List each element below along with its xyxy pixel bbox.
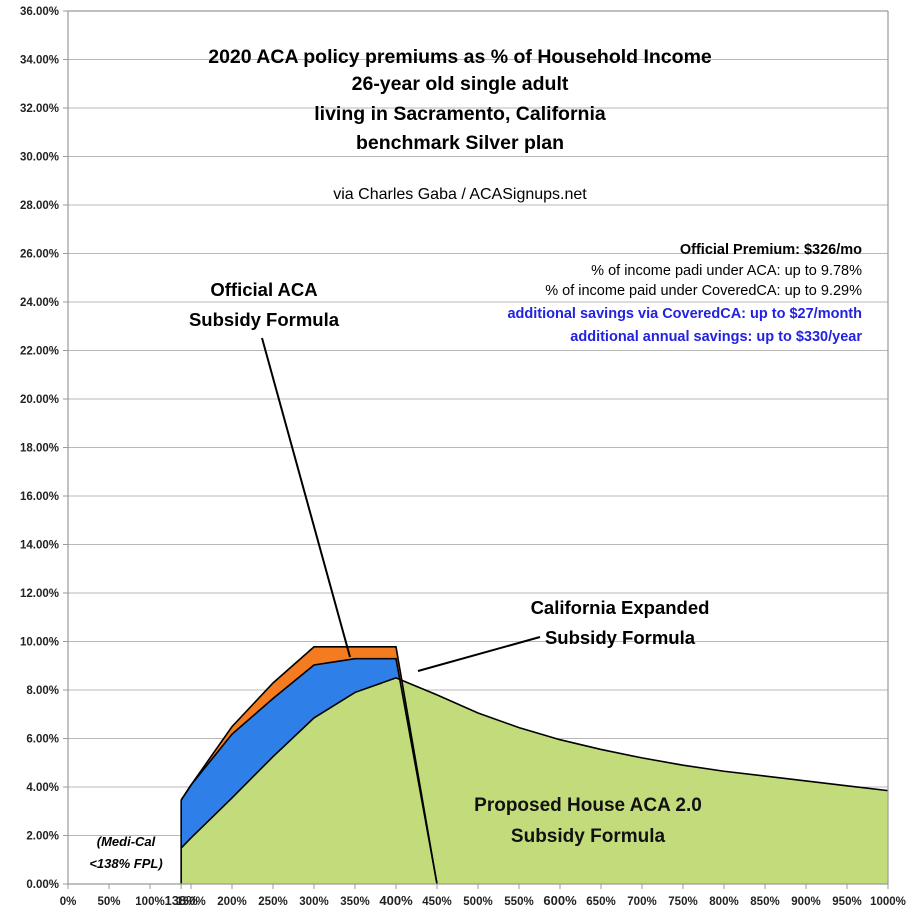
x-tick-label: 100%: [135, 896, 164, 908]
y-tick-label: 22.00%: [20, 346, 59, 358]
callout-leader-lines: [262, 338, 540, 671]
y-axis-tick-labels: 0.00%2.00%4.00%6.00%8.00%10.00%12.00%14.…: [20, 6, 59, 891]
x-tick-label: 700%: [627, 896, 656, 908]
x-tick-label: 1000%: [870, 896, 906, 908]
chart-title-line: benchmark Silver plan: [356, 132, 564, 154]
chart-title-line: living in Sacramento, California: [314, 103, 606, 125]
x-tick-label: 550%: [504, 896, 533, 908]
chart-title-line: 2020 ACA policy premiums as % of Househo…: [208, 46, 712, 68]
leader-line-california-expanded: [418, 637, 540, 671]
x-tick-label: 150%: [176, 896, 205, 908]
x-tick-label: 600%: [543, 893, 577, 908]
x-tick-label: 250%: [258, 896, 287, 908]
annotation-note: Official Premium: $326/mo: [680, 242, 862, 258]
chart-areas: [181, 647, 888, 884]
x-tick-label: 800%: [709, 896, 738, 908]
y-tick-label: 10.00%: [20, 637, 59, 649]
y-tick-label: 20.00%: [20, 394, 59, 406]
y-tick-label: 34.00%: [20, 55, 59, 67]
x-tick-label: 850%: [750, 896, 779, 908]
medi-cal-note-line: (Medi-Cal: [97, 834, 156, 849]
x-tick-label: 750%: [668, 896, 697, 908]
x-tick-label: 900%: [791, 896, 820, 908]
y-tick-label: 32.00%: [20, 103, 59, 115]
premium-area-chart: 0.00%2.00%4.00%6.00%8.00%10.00%12.00%14.…: [0, 0, 912, 920]
official-aca-callout-line: Subsidy Formula: [189, 309, 340, 330]
y-tick-label: 36.00%: [20, 6, 59, 18]
x-tick-label: 50%: [97, 896, 120, 908]
california-expanded-callout-line: California Expanded: [531, 597, 710, 618]
x-axis-tick-labels: 0%50%100%138%150%200%250%300%350%400%450…: [60, 893, 906, 908]
y-tick-label: 24.00%: [20, 297, 59, 309]
chart-title-line: 26-year old single adult: [352, 73, 569, 95]
annotation-note: % of income padi under ACA: up to 9.78%: [591, 263, 862, 279]
x-tick-label: 350%: [340, 896, 369, 908]
official-aca-callout-line: Official ACA: [210, 279, 317, 300]
x-tick-label: 950%: [832, 896, 861, 908]
house-aca-2-label-line: Proposed House ACA 2.0: [474, 795, 702, 816]
y-tick-label: 12.00%: [20, 588, 59, 600]
y-tick-label: 16.00%: [20, 491, 59, 503]
y-tick-label: 6.00%: [26, 734, 59, 746]
x-tick-label: 0%: [60, 896, 77, 908]
y-tick-label: 2.00%: [26, 831, 59, 843]
annotation-note: additional annual savings: up to $330/ye…: [570, 329, 862, 345]
annotation-note: % of income paid under CoveredCA: up to …: [545, 283, 862, 299]
y-tick-label: 14.00%: [20, 540, 59, 552]
house-aca-2-label-line: Subsidy Formula: [511, 826, 666, 847]
annotation-note: additional savings via CoveredCA: up to …: [507, 306, 862, 322]
y-tick-label: 30.00%: [20, 152, 59, 164]
y-tick-label: 26.00%: [20, 249, 59, 261]
y-tick-label: 28.00%: [20, 200, 59, 212]
x-tick-label: 500%: [463, 896, 492, 908]
x-tick-label: 450%: [422, 896, 451, 908]
y-tick-label: 18.00%: [20, 443, 59, 455]
medi-cal-note-line: <138% FPL): [89, 856, 162, 871]
california-expanded-callout-line: Subsidy Formula: [545, 627, 696, 648]
y-tick-label: 8.00%: [26, 685, 59, 697]
x-tick-label: 300%: [299, 896, 328, 908]
x-tick-label: 400%: [379, 893, 413, 908]
y-tick-label: 4.00%: [26, 782, 59, 794]
chart-subtitle: via Charles Gaba / ACASignups.net: [333, 186, 587, 203]
y-tick-label: 0.00%: [26, 879, 59, 891]
chart-container: 0.00%2.00%4.00%6.00%8.00%10.00%12.00%14.…: [0, 0, 912, 920]
x-tick-label: 650%: [586, 896, 615, 908]
leader-line-official-aca: [262, 338, 350, 657]
x-tick-label: 200%: [217, 896, 246, 908]
